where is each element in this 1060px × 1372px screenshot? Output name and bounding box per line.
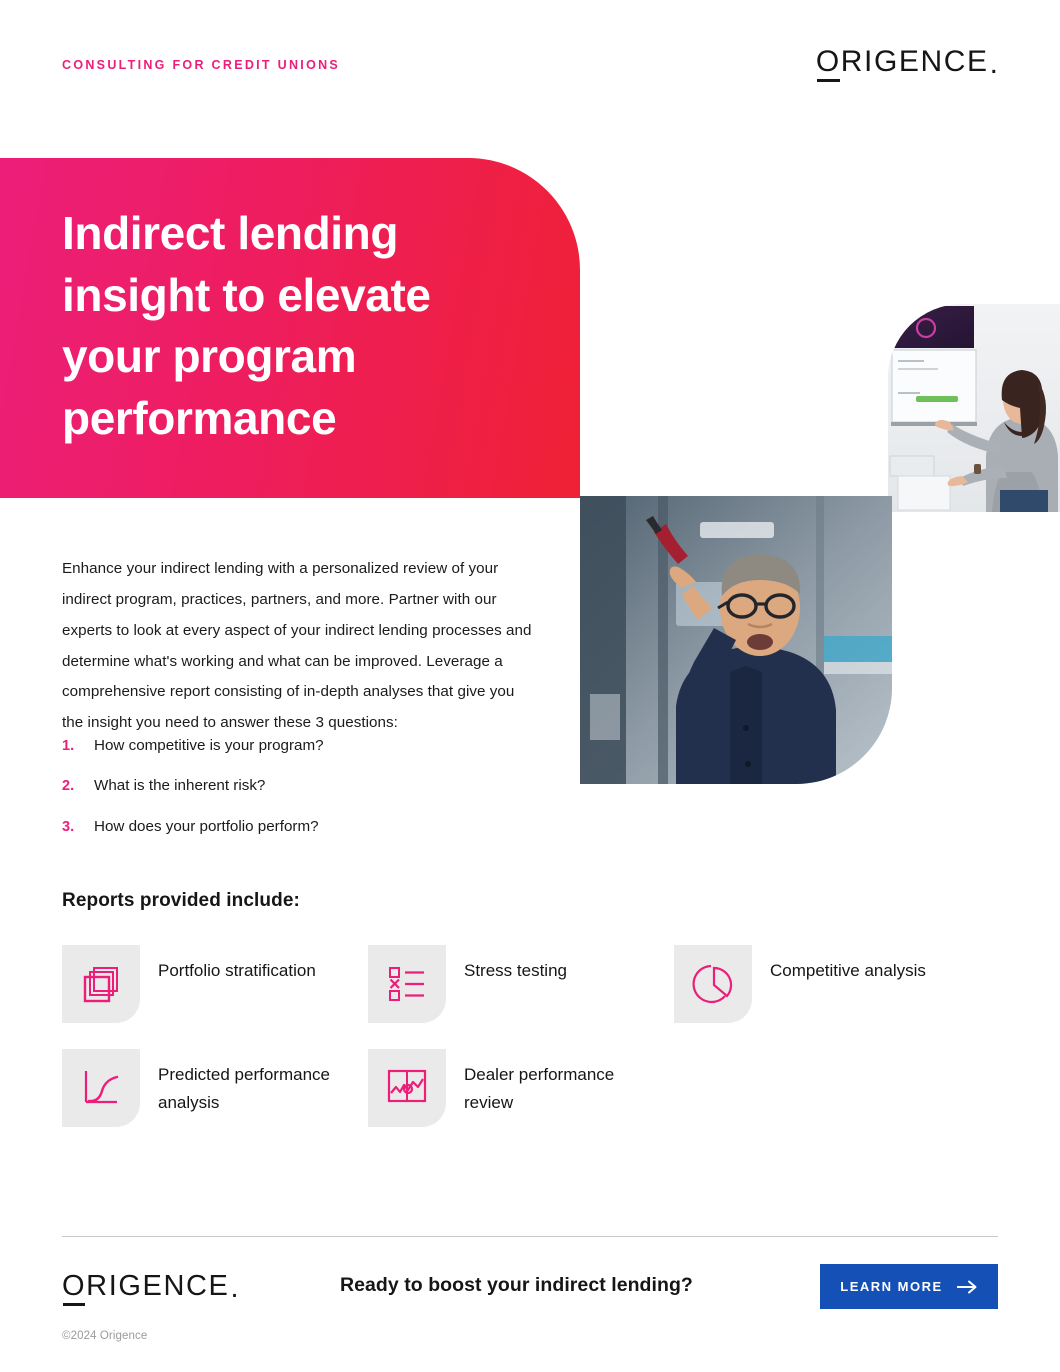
- hero-title: Indirect lending insight to elevate your…: [62, 203, 532, 450]
- pie-chart-icon: [692, 963, 734, 1005]
- report-label: Dealer performance review: [464, 1049, 654, 1116]
- report-icon-tile: [674, 945, 752, 1023]
- question-item: 1. How competitive is your program?: [62, 735, 502, 756]
- flyer-page: CONSULTING FOR CREDIT UNIONS ORIGENCE . …: [0, 0, 1060, 1372]
- origence-wordmark: ORIGENCE .: [816, 47, 998, 79]
- question-text: How competitive is your program?: [94, 735, 324, 756]
- report-item-stress-testing: Stress testing: [368, 945, 674, 1023]
- report-icon-tile: [62, 945, 140, 1023]
- question-number: 2.: [62, 778, 94, 794]
- wordmark-text: ORIGENCE: [816, 47, 989, 79]
- origence-wordmark-footer: ORIGENCE .: [62, 1272, 239, 1303]
- pointer-photo: [580, 496, 892, 784]
- body-paragraph: Enhance your indirect lending with a per…: [62, 554, 532, 739]
- report-item-predicted-performance-analysis: Predicted performance analysis: [62, 1049, 368, 1127]
- wordmark-text-footer: ORIGENCE: [62, 1272, 230, 1303]
- report-label: Portfolio stratification: [158, 945, 316, 985]
- checklist-icon: [387, 964, 427, 1004]
- s-curve-graph-icon: [81, 1068, 121, 1108]
- reports-heading: Reports provided include:: [62, 890, 300, 912]
- logo-registered-mark: .: [990, 49, 998, 79]
- question-item: 3. How does your portfolio perform?: [62, 816, 502, 837]
- learn-more-button[interactable]: LEARN MORE: [820, 1264, 998, 1309]
- presenter-photo: [888, 304, 1060, 512]
- copyright-text: ©2024 Origence: [62, 1330, 147, 1342]
- report-label: Predicted performance analysis: [158, 1049, 348, 1116]
- logo-o-letter: O: [816, 47, 841, 79]
- pointer-photo-graphic: [580, 496, 892, 784]
- reports-grid: Portfolio stratification Stress testing: [62, 945, 1002, 1127]
- question-number: 3.: [62, 819, 94, 835]
- logo-rest-letters: RIGENCE: [841, 45, 989, 78]
- question-item: 2. What is the inherent risk?: [62, 775, 502, 796]
- learn-more-label: LEARN MORE: [840, 1279, 942, 1294]
- header-logo: ORIGENCE .: [816, 47, 998, 79]
- question-text: What is the inherent risk?: [94, 775, 265, 796]
- report-icon-tile: [368, 945, 446, 1023]
- logo-registered-mark-footer: .: [231, 1274, 239, 1303]
- logo-o-letter-footer: O: [62, 1272, 86, 1303]
- report-item-dealer-performance-review: Dealer performance review: [368, 1049, 674, 1127]
- report-icon-tile: [368, 1049, 446, 1127]
- hero-panel: Indirect lending insight to elevate your…: [0, 158, 580, 498]
- questions-list: 1. How competitive is your program? 2. W…: [62, 735, 502, 856]
- report-item-portfolio-stratification: Portfolio stratification: [62, 945, 368, 1023]
- report-item-competitive-analysis: Competitive analysis: [674, 945, 980, 1023]
- footer-cta-question: Ready to boost your indirect lending?: [340, 1274, 693, 1297]
- report-label: Competitive analysis: [770, 945, 926, 985]
- footer-divider: [62, 1236, 998, 1237]
- presenter-photo-graphic: [888, 304, 1060, 512]
- arrow-right-icon: [956, 1280, 978, 1294]
- question-number: 1.: [62, 738, 94, 754]
- eyebrow-label: CONSULTING FOR CREDIT UNIONS: [62, 58, 340, 72]
- logo-rest-letters-footer: RIGENCE: [86, 1270, 229, 1302]
- footer-logo: ORIGENCE .: [62, 1272, 239, 1303]
- question-text: How does your portfolio perform?: [94, 816, 319, 837]
- report-label: Stress testing: [464, 945, 567, 985]
- stacked-squares-icon: [81, 964, 121, 1004]
- report-icon-tile: [62, 1049, 140, 1127]
- line-chart-frame-icon: [386, 1067, 428, 1109]
